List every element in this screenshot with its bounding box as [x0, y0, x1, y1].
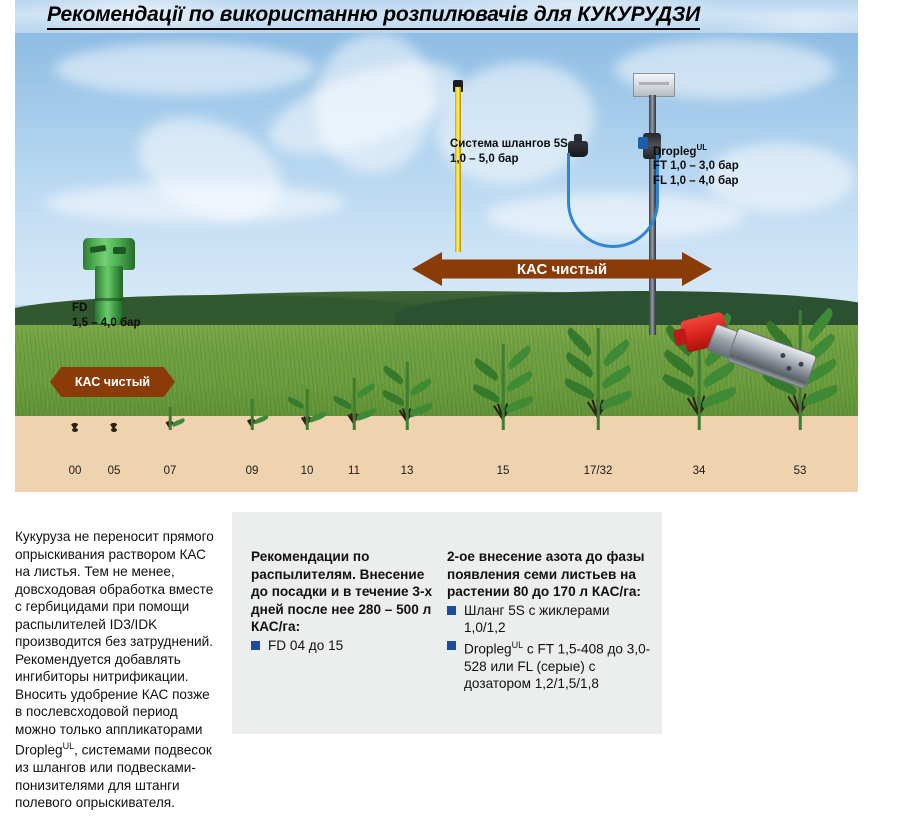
corn-plant-icon — [324, 270, 384, 430]
leaf-icon — [472, 383, 502, 403]
leaf-icon — [331, 395, 352, 409]
dropleg-label-ft: FT 1,0 – 3,0 бар — [653, 160, 739, 172]
bbch-stage-label: 00 — [69, 465, 82, 477]
recommendation-column-2-list: Шланг 5S с жиклерами 1,0/1,2DroplegUL с … — [447, 602, 652, 693]
bbch-stage-label: 13 — [401, 465, 414, 477]
bbch-stage-label: 07 — [164, 465, 177, 477]
dropleg-label-sup: UL — [696, 143, 707, 152]
dropleg-label: DroplegUL FT 1,0 – 3,0 бар FL 1,0 – 4,0 … — [653, 141, 739, 188]
corn-plant-icon — [473, 270, 533, 430]
left-paragraph: Кукуруза не переносит прямого опрыскиван… — [15, 528, 220, 812]
fd-label-name: FD — [72, 302, 87, 314]
leaf-icon — [505, 345, 533, 370]
leaf-icon — [356, 382, 377, 398]
stem-icon — [306, 389, 309, 431]
seed-icon — [72, 428, 78, 432]
boom-bar-icon — [633, 73, 675, 97]
list-item: Шланг 5S с жиклерами 1,0/1,2 — [447, 602, 652, 637]
fd-label: FD 1,5 – 4,0 бар — [72, 301, 140, 330]
page-title: Рекомендації по використанню розпилювачі… — [47, 3, 700, 30]
left-paragraph-sup: UL — [63, 741, 75, 751]
leaf-icon — [600, 339, 632, 367]
seed-icon — [111, 428, 117, 432]
leaf-icon — [563, 352, 596, 378]
dropleg-label-name: Dropleg — [653, 146, 696, 158]
fd-label-pressure: 1,5 – 4,0 бар — [72, 317, 140, 329]
corn-plant-icon — [222, 270, 282, 430]
leaf-icon — [408, 402, 434, 417]
recommendation-column-2-heading: 2-ое внесение азота до фазы появления се… — [447, 548, 652, 601]
recommendation-column-1-list: FD 04 до 15 — [251, 637, 441, 655]
cloud-wisp-icon — [306, 33, 444, 181]
recommendation-column-1: Рекомендации по распылителям. Внесение д… — [251, 548, 441, 654]
stem-icon — [502, 344, 505, 430]
leaf-icon — [472, 358, 501, 381]
leaf-icon — [254, 415, 270, 425]
bbch-stage-label: 11 — [348, 465, 360, 477]
blue-hose-loop-icon — [567, 153, 659, 248]
bbch-stage-label: 15 — [497, 465, 510, 477]
leaf-icon — [409, 377, 434, 395]
superscript-label: UL — [512, 640, 524, 650]
leaf-icon — [381, 365, 406, 385]
corn-plant-icon — [140, 270, 200, 430]
bbch-stage-label: 09 — [246, 465, 259, 477]
bbch-stage-label: 17/32 — [584, 465, 613, 477]
bbch-stage-label: 34 — [693, 465, 706, 477]
corn-plant-icon — [377, 270, 437, 430]
corn-plant-icon — [568, 270, 628, 430]
hose-system-label-pressure: 1,0 – 5,0 бар — [450, 153, 518, 165]
dropleg-label-fl: FL 1,0 – 4,0 бар — [653, 175, 739, 187]
bbch-stage-label: 10 — [301, 465, 314, 477]
bullet-square-icon — [447, 641, 456, 650]
bbch-stage-label: 05 — [108, 465, 121, 477]
stem-icon — [169, 407, 172, 430]
hose-system-label-name: Система шлангов 5S — [450, 138, 568, 150]
cloud-wisp-icon — [55, 43, 315, 95]
left-paragraph-body: Кукуруза не переносит прямого опрыскиван… — [15, 529, 214, 758]
recommendation-box: Рекомендации по распылителям. Внесение д… — [232, 512, 662, 734]
bullet-square-icon — [251, 641, 260, 650]
recommendation-column-1-heading: Рекомендации по распылителям. Внесение д… — [251, 548, 441, 636]
title-bar: Рекомендації по використанню розпилювачі… — [15, 0, 858, 33]
list-item: FD 04 до 15 — [251, 637, 441, 655]
illustration-panel: FD 1,5 – 4,0 бар Система шлангов 5S 1,0 … — [15, 33, 858, 492]
bullet-square-icon — [447, 606, 456, 615]
stem-icon — [597, 328, 600, 430]
recommendation-column-2: 2-ое внесение азота до фазы появления се… — [447, 548, 652, 693]
stem-icon — [353, 378, 356, 430]
hose-rod-icon — [455, 87, 461, 252]
stem-icon — [251, 399, 254, 430]
leaf-icon — [287, 396, 306, 409]
leaf-icon — [562, 378, 596, 400]
kas-pure-small-banner: КАС чистый — [50, 367, 175, 397]
leaf-icon — [505, 371, 535, 392]
leaf-icon — [172, 418, 186, 427]
leaf-icon — [380, 390, 405, 407]
leaf-icon — [355, 408, 376, 421]
bbch-stage-label: 53 — [794, 465, 807, 477]
hose-system-label: Система шлангов 5S 1,0 – 5,0 бар — [450, 137, 568, 166]
leaf-icon — [504, 396, 534, 413]
list-item: DroplegUL с FT 1,5-408 до 3,0-528 или FL… — [447, 637, 652, 693]
stem-icon — [406, 362, 409, 430]
